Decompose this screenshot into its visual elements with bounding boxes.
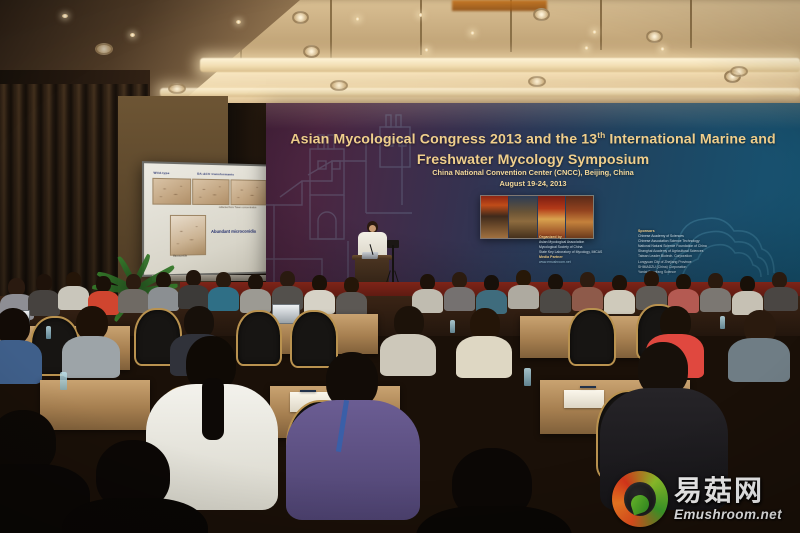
ceiling-downlight xyxy=(95,43,113,55)
watermark-url-text: Emushroom.net xyxy=(674,508,782,522)
ceiling-downlight xyxy=(303,45,320,58)
micrograph-image xyxy=(152,178,191,205)
water-bottle xyxy=(524,368,531,386)
attendee-torso xyxy=(700,288,731,312)
attendee-torso xyxy=(286,400,420,520)
ceiling-downlight xyxy=(418,13,423,17)
banquet-chair xyxy=(290,310,338,368)
slide-note: collected from Tween concentration xyxy=(219,206,257,209)
attendee-torso xyxy=(336,292,367,316)
attendee-head xyxy=(644,271,659,287)
banquet-chair xyxy=(568,308,616,366)
attendee-torso xyxy=(444,287,475,311)
slide-header-right: DA-ΔCU transformants xyxy=(197,172,234,177)
slide-label: Abundant microconidia xyxy=(211,229,256,234)
attendee-torso xyxy=(208,287,239,311)
ceiling-light-cove xyxy=(200,58,800,72)
attendee-head xyxy=(216,272,231,288)
attendee-torso xyxy=(62,498,208,533)
attendee-torso xyxy=(0,340,42,384)
attendee-head xyxy=(580,272,595,288)
attendee-torso xyxy=(728,338,790,382)
banquet-chair xyxy=(236,310,282,366)
ceiling-downlight xyxy=(292,11,309,24)
attendee-head xyxy=(344,277,359,293)
attendee-head xyxy=(708,273,723,289)
water-bottle xyxy=(46,326,51,339)
attendee-head xyxy=(76,306,108,340)
ceiling-downlight xyxy=(592,30,597,34)
ceiling-downlight xyxy=(730,66,748,77)
ceiling-downlight xyxy=(470,31,475,35)
ceiling-downlight xyxy=(236,20,241,24)
ceiling-downlight xyxy=(424,48,429,52)
attendee-head xyxy=(676,274,691,290)
ceiling-downlight xyxy=(62,14,68,18)
attendee-head xyxy=(772,272,787,288)
ceiling-downlight xyxy=(533,8,550,21)
attendee-head xyxy=(420,274,435,290)
ceiling-downlight xyxy=(355,17,360,21)
conference-photo: Wild-type DA-ΔCU transformants collected… xyxy=(0,0,800,533)
emushroom-logo-icon xyxy=(612,471,668,527)
attendee-torso xyxy=(456,336,512,378)
ceiling-downlight xyxy=(528,76,546,87)
attendee-head xyxy=(516,270,531,286)
conference-table xyxy=(40,380,150,430)
attendee-head xyxy=(186,270,201,286)
attendee-head xyxy=(0,308,30,344)
attendee-head xyxy=(156,272,171,288)
micrograph-image xyxy=(230,179,266,205)
attendee-head xyxy=(740,276,755,292)
ceiling-downlight xyxy=(646,30,663,43)
speaker-face xyxy=(369,225,376,232)
attendee-head xyxy=(248,274,263,290)
pen xyxy=(300,390,316,392)
ceiling-downlight xyxy=(584,46,589,50)
ceiling-light-cove-lower xyxy=(160,88,800,97)
attendee-head xyxy=(484,275,499,291)
attendee-head xyxy=(452,272,467,288)
ceiling-downlight xyxy=(130,33,135,37)
attendee-head xyxy=(312,275,327,291)
attendee-head xyxy=(36,274,52,291)
water-bottle xyxy=(60,372,67,390)
watermark: 易菇网 Emushroom.net xyxy=(612,468,794,530)
ponytail xyxy=(202,378,224,440)
attendee-head xyxy=(612,275,627,291)
ceiling-orange-panel xyxy=(452,0,547,11)
attendee-head xyxy=(548,274,563,290)
water-bottle xyxy=(720,316,725,329)
attendee-torso xyxy=(380,334,436,376)
attendee-head xyxy=(96,276,111,292)
micrograph-image xyxy=(192,179,229,206)
attendee-torso xyxy=(764,287,798,311)
ceiling-downlight xyxy=(168,83,186,94)
slide-header-left: Wild-type xyxy=(153,171,169,175)
ceiling-downlight xyxy=(660,47,665,51)
attendee-torso xyxy=(62,336,120,378)
ceiling-downlight xyxy=(330,80,348,91)
watermark-chinese-text: 易菇网 xyxy=(674,477,782,505)
attendee-torso xyxy=(28,290,60,316)
attendee-torso xyxy=(416,506,572,533)
attendee-torso xyxy=(178,285,209,309)
attendee-head xyxy=(280,271,295,287)
attendee-torso xyxy=(508,285,539,309)
water-bottle xyxy=(450,320,455,333)
attendee-head xyxy=(126,274,141,290)
pen xyxy=(580,386,596,388)
attendee-torso xyxy=(540,289,571,313)
